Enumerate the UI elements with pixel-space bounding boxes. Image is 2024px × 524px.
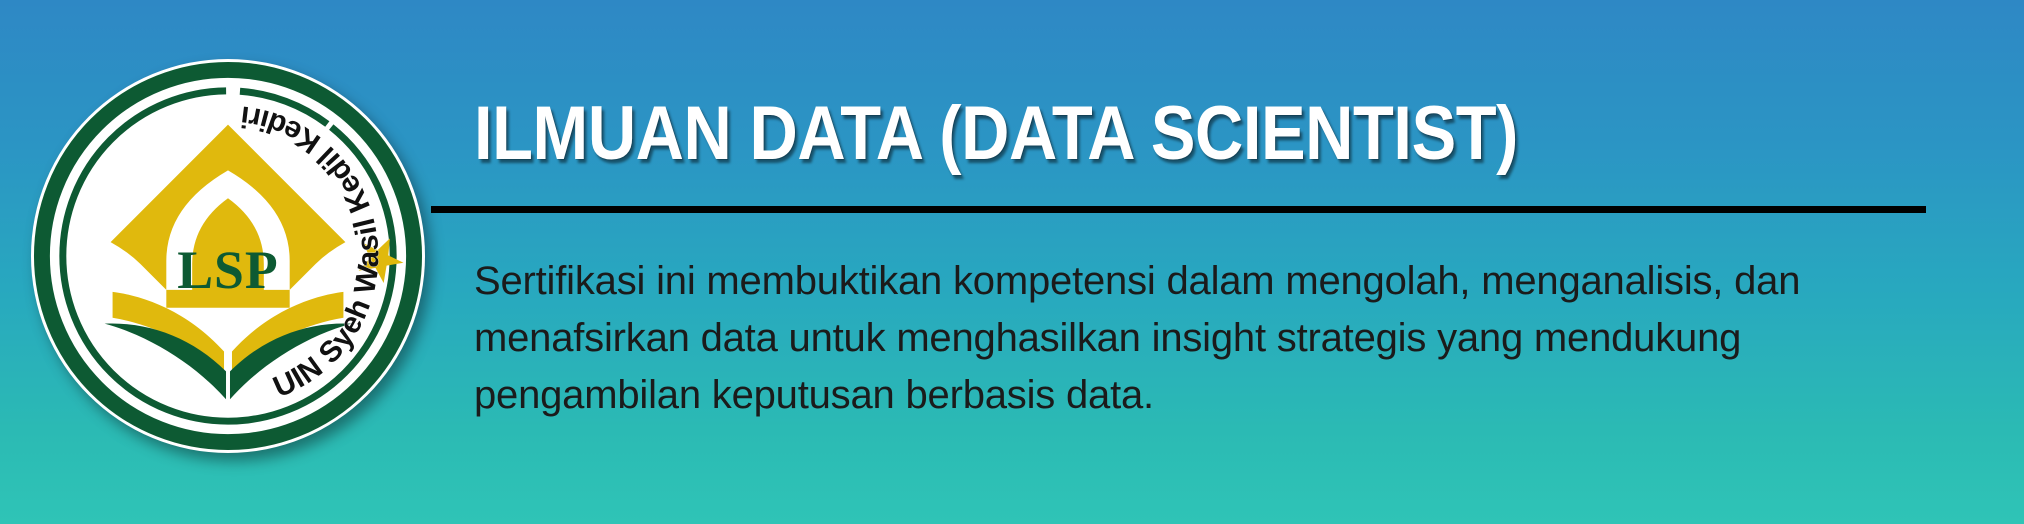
description-line-3: pengambilan keputusan berbasis data. — [474, 367, 1804, 424]
description-text: Sertifikasi ini membuktikan kompetensi d… — [474, 253, 1804, 424]
lsp-logo: LSP UIN Syeh Wasil Kedil Kediri — [29, 57, 427, 455]
description-line-2: menafsirkan data untuk menghasilkan insi… — [474, 310, 1804, 367]
page-title: ILMUAN DATA (DATA SCIENTIST) — [474, 92, 1518, 176]
description-line-1: Sertifikasi ini membuktikan kompetensi d… — [474, 253, 1804, 310]
title-divider — [431, 206, 1926, 213]
certification-banner: LSP UIN Syeh Wasil Kedil Kediri ILMUAN D… — [0, 0, 2024, 524]
logo-monogram: LSP — [177, 240, 279, 300]
